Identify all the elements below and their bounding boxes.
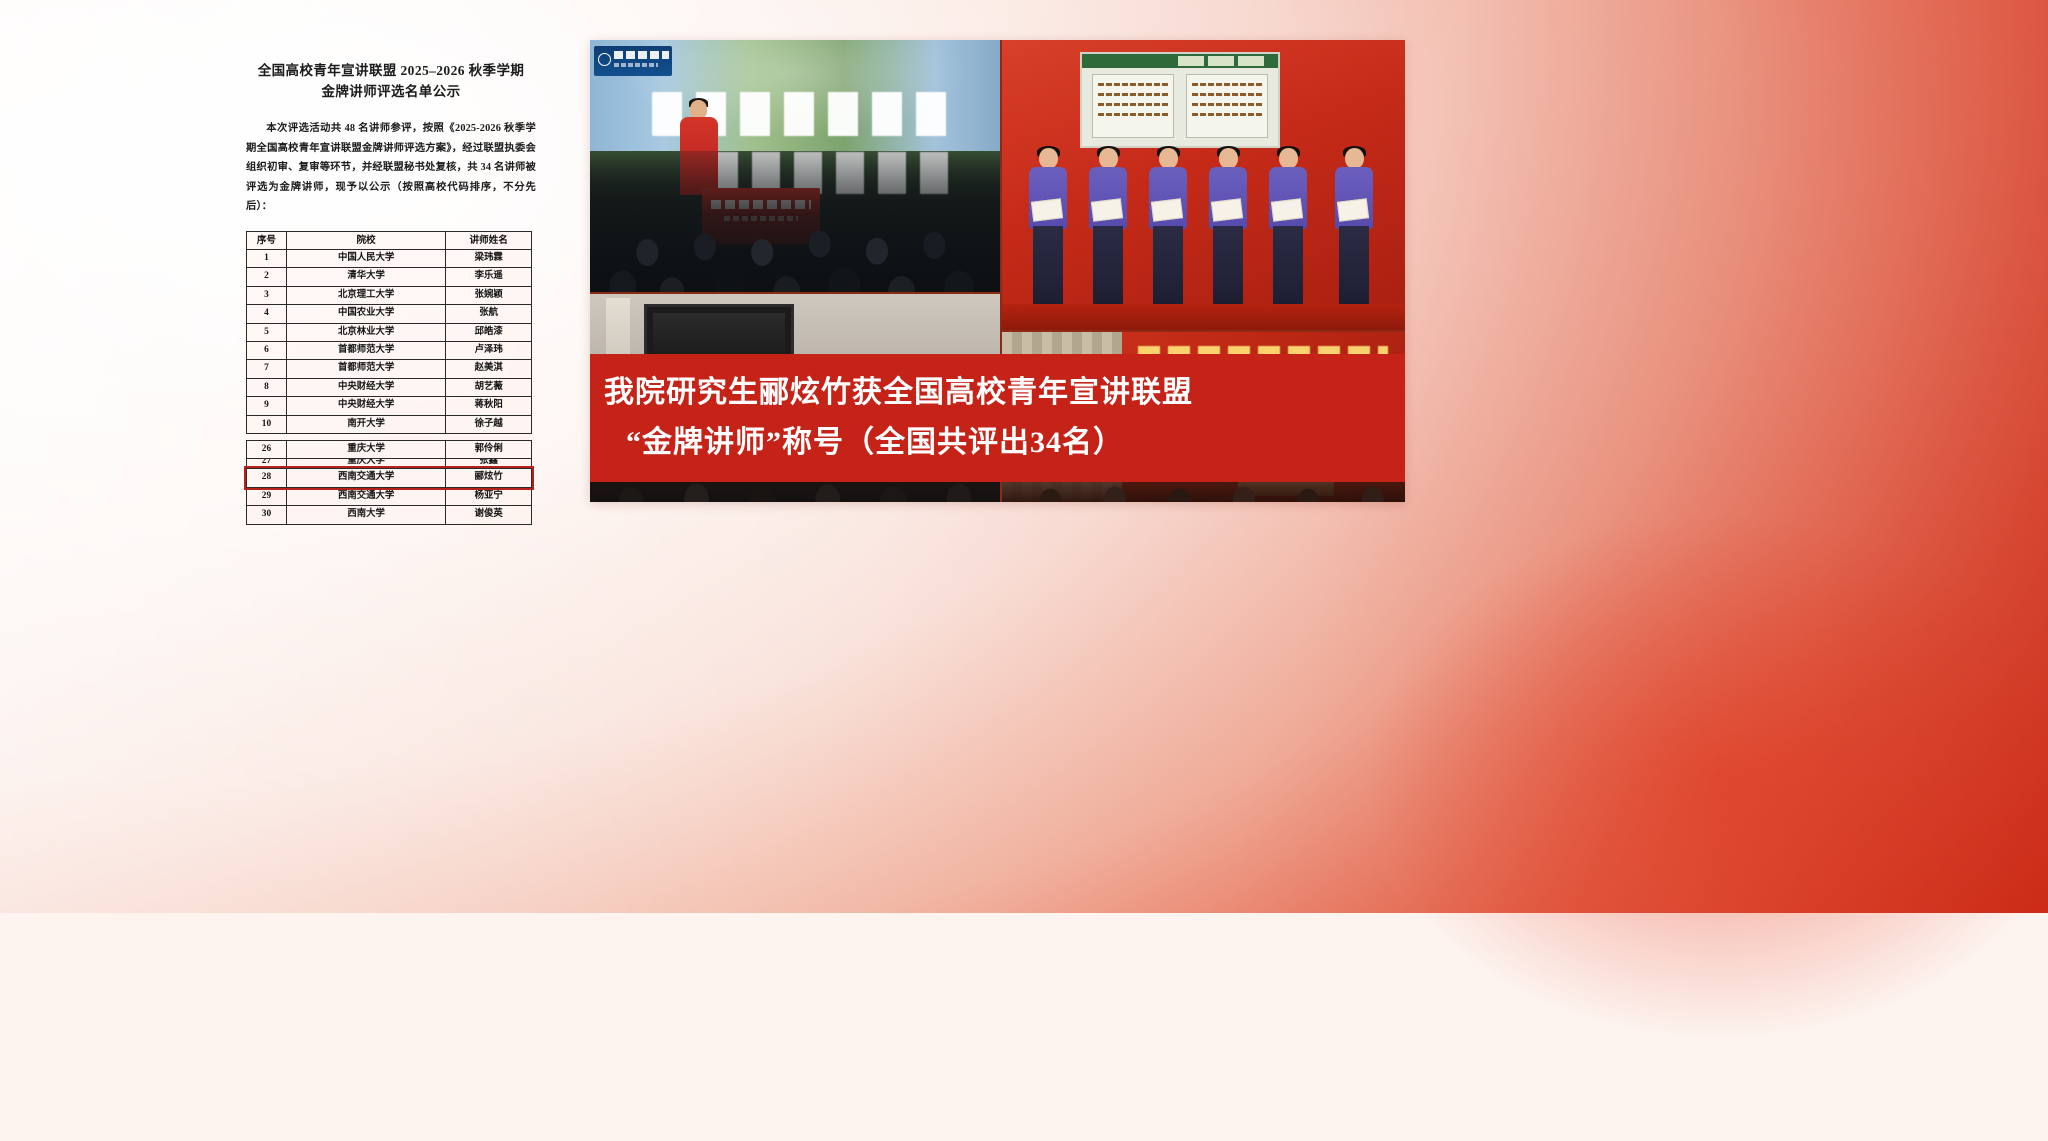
cell-school: 北京林业大学 bbox=[286, 323, 445, 341]
board-tab bbox=[1238, 56, 1264, 66]
board-pane-line bbox=[1192, 83, 1262, 86]
table-row: 7首都师范大学赵美淇 bbox=[247, 360, 532, 378]
table-header-row: 序号 院校 讲师姓名 bbox=[247, 231, 532, 249]
student-script-paper bbox=[1091, 198, 1123, 222]
student-row bbox=[1020, 134, 1392, 324]
cell-index: 5 bbox=[247, 323, 287, 341]
cell-school: 北京理工大学 bbox=[286, 286, 445, 304]
cell-name: 梁玮霖 bbox=[446, 249, 532, 267]
stage-floor bbox=[1002, 304, 1405, 330]
cell-name: 李乐遥 bbox=[446, 268, 532, 286]
cell-school: 西南交通大学 bbox=[286, 487, 445, 505]
document-title: 全国高校青年宣讲联盟 2025–2026 秋季学期 金牌讲师评选名单公示 bbox=[246, 60, 536, 102]
document-title-line-2: 金牌讲师评选名单公示 bbox=[246, 81, 536, 102]
student-figure bbox=[1332, 148, 1376, 324]
student-figure bbox=[1206, 148, 1250, 324]
cell-school: 首都师范大学 bbox=[286, 341, 445, 359]
board-tab bbox=[1178, 56, 1204, 66]
student-script-paper bbox=[1151, 198, 1183, 222]
cell-name: 张航 bbox=[446, 305, 532, 323]
cell-school: 重庆大学 bbox=[286, 440, 445, 458]
cell-index: 30 bbox=[247, 506, 287, 524]
cell-name: 赵美淇 bbox=[446, 360, 532, 378]
cell-name: 卢泽玮 bbox=[446, 341, 532, 359]
student-head bbox=[1345, 148, 1364, 169]
cell-name: 邱皓漆 bbox=[446, 323, 532, 341]
student-head bbox=[1219, 148, 1238, 169]
column-header-name: 讲师姓名 bbox=[446, 231, 532, 249]
cell-name: 郦炫竹 bbox=[446, 469, 532, 487]
table-row: 4中国农业大学张航 bbox=[247, 305, 532, 323]
roster-table: 序号 院校 讲师姓名 1中国人民大学梁玮霖 2清华大学李乐遥 3北京理工大学张婉… bbox=[246, 231, 532, 525]
gap-cell bbox=[247, 433, 532, 440]
cell-school: 中央财经大学 bbox=[286, 378, 445, 396]
caption-line-2: “金牌讲师”称号（全国共评出34名） bbox=[604, 418, 1405, 468]
board-pane-line bbox=[1192, 103, 1262, 106]
outdoor-lecture-photo bbox=[590, 40, 1000, 292]
board-tab bbox=[1208, 56, 1234, 66]
table-row-highlighted: 28西南交通大学郦炫竹 bbox=[247, 469, 532, 487]
banner-title-text bbox=[614, 51, 669, 59]
table-row: 29西南交通大学杨亚宁 bbox=[247, 487, 532, 505]
student-head bbox=[1159, 148, 1178, 169]
table-row: 9中央财经大学蒋秋阳 bbox=[247, 397, 532, 415]
cell-index: 4 bbox=[247, 305, 287, 323]
student-script-paper bbox=[1031, 198, 1063, 222]
cell-school: 中国人民大学 bbox=[286, 249, 445, 267]
student-script-paper bbox=[1337, 198, 1369, 222]
board-pane-line bbox=[1098, 83, 1168, 86]
cell-index: 10 bbox=[247, 415, 287, 433]
column-header-index: 序号 bbox=[247, 231, 287, 249]
student-head bbox=[1039, 148, 1058, 169]
board-pane-line bbox=[1192, 113, 1262, 116]
cell-name: 谢俊英 bbox=[446, 506, 532, 524]
table-row: 5北京林业大学邱皓漆 bbox=[247, 323, 532, 341]
student-head bbox=[1279, 148, 1298, 169]
board-pane bbox=[1092, 74, 1174, 138]
cell-school: 西南交通大学 bbox=[286, 469, 445, 487]
student-head bbox=[1099, 148, 1118, 169]
table-row: 2清华大学李乐遥 bbox=[247, 268, 532, 286]
table-row: 10南开大学徐子越 bbox=[247, 415, 532, 433]
table-row: 8中央财经大学胡艺薇 bbox=[247, 378, 532, 396]
cell-name: 张婉颖 bbox=[446, 286, 532, 304]
stage-students-photo bbox=[1002, 40, 1405, 330]
table-row: 3北京理工大学张婉颖 bbox=[247, 286, 532, 304]
cell-name: 郭伶俐 bbox=[446, 440, 532, 458]
cell-school: 南开大学 bbox=[286, 415, 445, 433]
board-pane bbox=[1186, 74, 1268, 138]
cell-index: 8 bbox=[247, 378, 287, 396]
board-pane-line bbox=[1098, 103, 1168, 106]
poster-canvas: 全国高校青年宣讲联盟 2025–2026 秋季学期 金牌讲师评选名单公示 本次评… bbox=[0, 0, 2048, 913]
cell-index: 27 bbox=[247, 459, 287, 469]
background-red-glow bbox=[1229, 411, 2048, 1141]
cell-index: 28 bbox=[247, 469, 287, 487]
table-row: 30西南大学谢俊英 bbox=[247, 506, 532, 524]
table-row: 6首都师范大学卢泽玮 bbox=[247, 341, 532, 359]
roster-table-body: 1中国人民大学梁玮霖 2清华大学李乐遥 3北京理工大学张婉颖 4中国农业大学张航… bbox=[247, 249, 532, 524]
cell-index: 6 bbox=[247, 341, 287, 359]
board-pane-line bbox=[1098, 93, 1168, 96]
student-figure bbox=[1026, 148, 1070, 324]
cell-name: 徐子越 bbox=[446, 415, 532, 433]
cell-school: 中央财经大学 bbox=[286, 397, 445, 415]
paragraph-text: 本次评选活动共 48 名讲师参评，按照《2025-2026 秋季学期全国高校青年… bbox=[246, 123, 536, 212]
cell-school: 西南大学 bbox=[286, 506, 445, 524]
roster-table-wrapper: 序号 院校 讲师姓名 1中国人民大学梁玮霖 2清华大学李乐遥 3北京理工大学张婉… bbox=[246, 231, 536, 525]
student-figure bbox=[1086, 148, 1130, 324]
board-pane-line bbox=[1098, 113, 1168, 116]
table-row: 1中国人民大学梁玮霖 bbox=[247, 249, 532, 267]
cell-school: 首都师范大学 bbox=[286, 360, 445, 378]
cell-index: 1 bbox=[247, 249, 287, 267]
student-script-paper bbox=[1271, 198, 1303, 222]
cell-index: 26 bbox=[247, 440, 287, 458]
cell-school: 中国农业大学 bbox=[286, 305, 445, 323]
cell-name: 胡艺薇 bbox=[446, 378, 532, 396]
university-banner bbox=[594, 46, 672, 76]
document-body-paragraph: 本次评选活动共 48 名讲师参评，按照《2025-2026 秋季学期全国高校青年… bbox=[246, 119, 536, 217]
cell-index: 29 bbox=[247, 487, 287, 505]
student-figure bbox=[1266, 148, 1310, 324]
announcement-document: 全国高校青年宣讲联盟 2025–2026 秋季学期 金牌讲师评选名单公示 本次评… bbox=[246, 46, 536, 506]
caption-banner: 我院研究生郦炫竹获全国高校青年宣讲联盟 “金牌讲师”称号（全国共评出34名） bbox=[590, 354, 1405, 482]
table-row: 26重庆大学郭伶俐 bbox=[247, 440, 532, 458]
caption-line-1: 我院研究生郦炫竹获全国高校青年宣讲联盟 bbox=[604, 368, 1405, 418]
cell-index: 2 bbox=[247, 268, 287, 286]
board-pane-line bbox=[1192, 93, 1262, 96]
audience-silhouettes bbox=[590, 151, 1000, 292]
cell-index: 3 bbox=[247, 286, 287, 304]
column-header-school: 院校 bbox=[286, 231, 445, 249]
table-row: 27重庆大学张鑫 bbox=[247, 459, 532, 469]
cell-school: 重庆大学 bbox=[286, 459, 445, 469]
cell-name: 杨亚宁 bbox=[446, 487, 532, 505]
university-seal-icon bbox=[598, 53, 611, 66]
board-header bbox=[1082, 54, 1278, 68]
cell-school: 清华大学 bbox=[286, 268, 445, 286]
document-title-line-1: 全国高校青年宣讲联盟 2025–2026 秋季学期 bbox=[246, 60, 536, 81]
table-row-gap bbox=[247, 433, 532, 440]
cell-index: 7 bbox=[247, 360, 287, 378]
student-figure bbox=[1146, 148, 1190, 324]
student-script-paper bbox=[1211, 198, 1243, 222]
cell-name: 张鑫 bbox=[446, 459, 532, 469]
cell-name: 蒋秋阳 bbox=[446, 397, 532, 415]
banner-subtitle-text bbox=[614, 63, 658, 67]
cell-index: 9 bbox=[247, 397, 287, 415]
